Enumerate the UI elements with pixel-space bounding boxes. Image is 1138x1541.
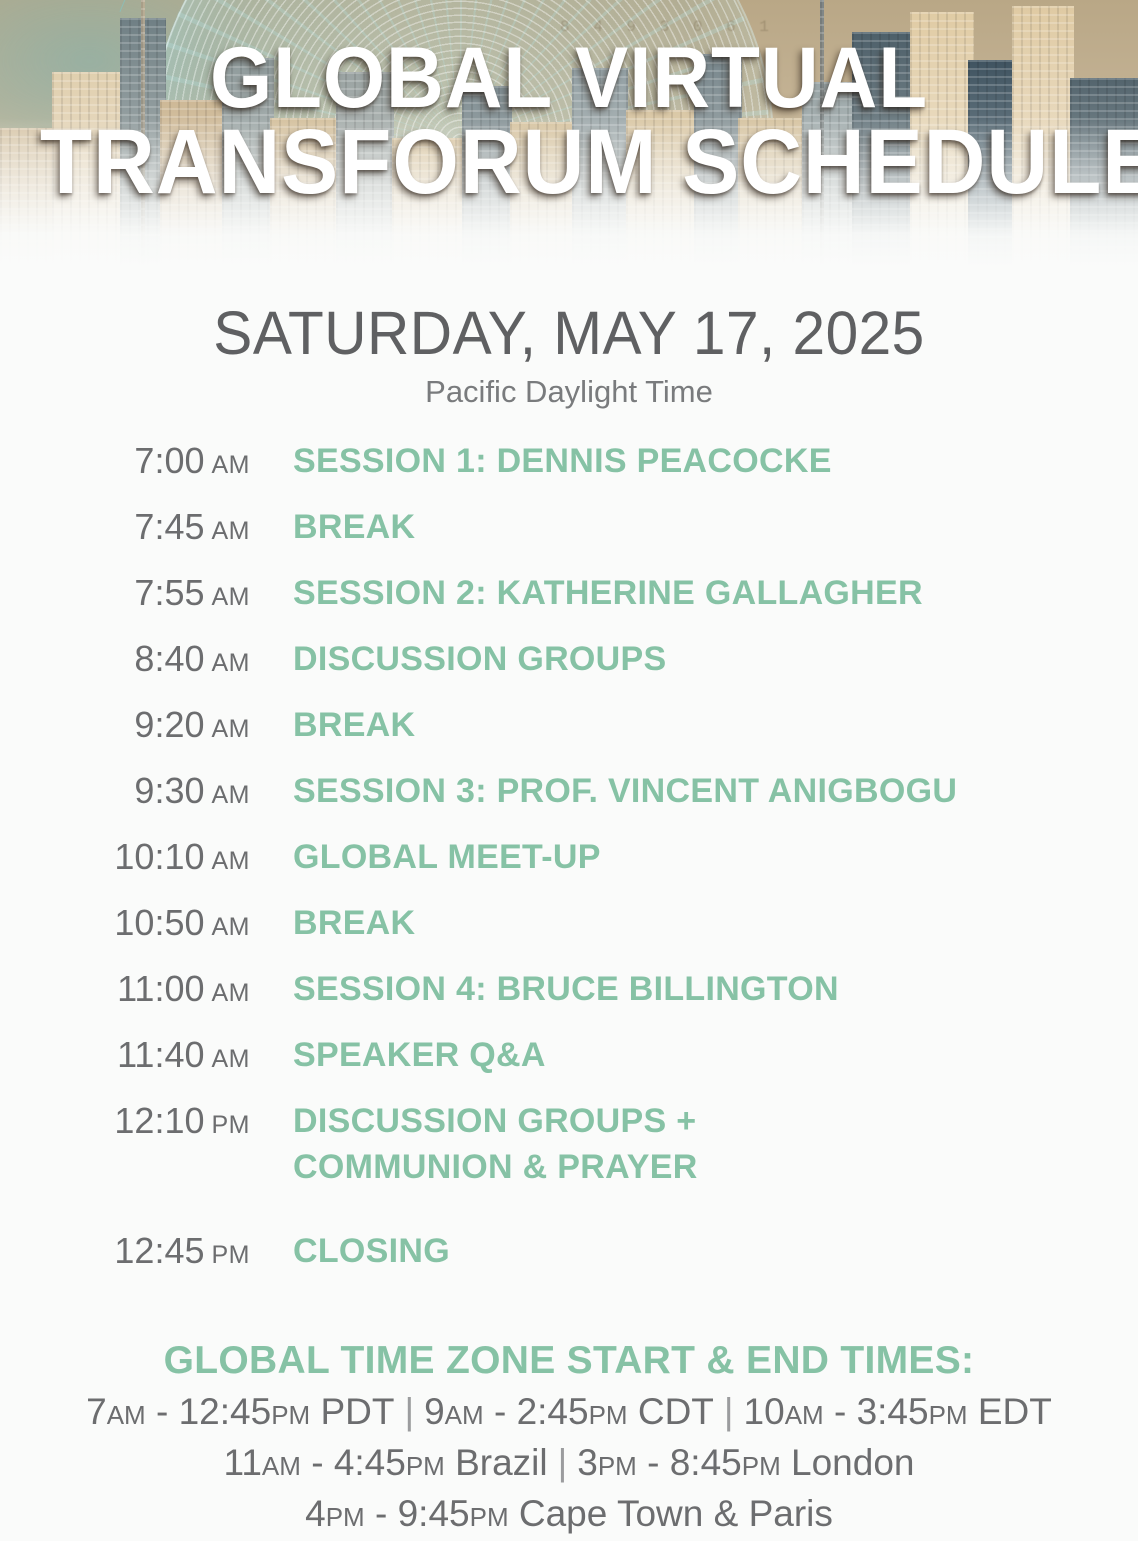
timezone-entry: 3PM - 8:45PM London: [577, 1442, 914, 1483]
time-value: 7:00: [134, 440, 204, 481]
timezone-dash: -: [637, 1442, 670, 1483]
timezone-end-mer: PM: [406, 1451, 445, 1481]
timezone-dash: -: [365, 1493, 398, 1534]
time-meridiem: AM: [212, 583, 251, 611]
schedule-row: 9:30AMSESSION 3: PROF. VINCENT ANIGBOGU: [0, 768, 1138, 834]
time-value: 12:45: [114, 1230, 204, 1271]
schedule-row-time: 7:55AM: [0, 570, 250, 620]
schedule-row-time: 12:45PM: [0, 1228, 250, 1278]
time-value: 11:00: [117, 968, 204, 1009]
time-value: 10:10: [114, 836, 204, 877]
timezone-start: 3: [577, 1442, 598, 1483]
schedule-row-time: 8:40AM: [0, 636, 250, 686]
schedule-row: 12:10PMDISCUSSION GROUPS + COMMUNION & P…: [0, 1098, 1138, 1228]
page-title: GLOBAL VIRTUAL TRANSFORUM SCHEDULE: [40, 36, 1098, 204]
time-meridiem: PM: [212, 1241, 251, 1269]
date-block: SATURDAY, MAY 17, 2025 Pacific Daylight …: [0, 300, 1138, 412]
timezone-end: 4:45: [334, 1442, 406, 1483]
schedule-row: 7:55AMSESSION 2: KATHERINE GALLAGHER: [0, 570, 1138, 636]
schedule-row-title: DISCUSSION GROUPS: [293, 636, 667, 682]
timezone-dash: -: [484, 1391, 517, 1432]
schedule-row: 7:45AMBREAK: [0, 504, 1138, 570]
timezone-line: 4PM - 9:45PM Cape Town & Paris: [0, 1490, 1138, 1541]
timezone-zone: PDT: [310, 1391, 394, 1432]
time-meridiem: AM: [212, 913, 251, 941]
timezone-zone: Brazil: [445, 1442, 548, 1483]
title-line-2: TRANSFORUM SCHEDULE: [40, 120, 1098, 204]
timezone-start-mer: AM: [262, 1451, 301, 1481]
footer-heading: GLOBAL TIME ZONE START & END TIMES:: [0, 1334, 1138, 1388]
header-banner: 0 9 3 7 6 0 8 5 1 8 4 9 3 0 6 1 GLOBAL V…: [0, 0, 1138, 268]
schedule-row: 10:10AMGLOBAL MEET-UP: [0, 834, 1138, 900]
schedule-row-time: 11:00AM: [0, 966, 250, 1016]
schedule-row-time: 11:40AM: [0, 1032, 250, 1082]
timezone-dash: -: [301, 1442, 334, 1483]
timezone-zone: CDT: [628, 1391, 714, 1432]
timezone-end-mer: PM: [271, 1400, 310, 1430]
time-meridiem: PM: [212, 1111, 251, 1139]
global-times-footer: GLOBAL TIME ZONE START & END TIMES: 7AM …: [0, 1334, 1138, 1541]
time-meridiem: AM: [212, 451, 251, 479]
timezone-end-mer: PM: [929, 1400, 968, 1430]
timezone-start-mer: AM: [445, 1400, 484, 1430]
timezone-zone: Cape Town & Paris: [509, 1493, 833, 1534]
schedule-row: 11:40AMSPEAKER Q&A: [0, 1032, 1138, 1098]
timezone-start: 7: [86, 1391, 107, 1432]
time-meridiem: AM: [212, 1045, 251, 1073]
timezone-end-mer: PM: [742, 1451, 781, 1481]
timezone-start-mer: AM: [107, 1400, 146, 1430]
time-meridiem: AM: [212, 649, 251, 677]
time-value: 11:40: [117, 1034, 204, 1075]
schedule-row: 11:00AMSESSION 4: BRUCE BILLINGTON: [0, 966, 1138, 1032]
event-date: SATURDAY, MAY 17, 2025: [23, 300, 1115, 366]
timezone-entry: 7AM - 12:45PM PDT: [86, 1391, 394, 1432]
timezone-separator: |: [394, 1391, 424, 1432]
timezone-lines: 7AM - 12:45PM PDT|9AM - 2:45PM CDT|10AM …: [0, 1388, 1138, 1541]
time-meridiem: AM: [212, 979, 251, 1007]
schedule-row-title: SESSION 1: DENNIS PEACOCKE: [293, 438, 832, 484]
time-meridiem: AM: [212, 847, 251, 875]
schedule-row: 12:45PMCLOSING: [0, 1228, 1138, 1294]
timezone-start-mer: PM: [598, 1451, 637, 1481]
schedule-row-title: SPEAKER Q&A: [293, 1032, 546, 1078]
schedule-row-title: SESSION 3: PROF. VINCENT ANIGBOGU: [293, 768, 957, 814]
schedule-row-time: 10:50AM: [0, 900, 250, 950]
time-value: 7:55: [134, 572, 204, 613]
schedule-row-time: 9:30AM: [0, 768, 250, 818]
timezone-start: 10: [744, 1391, 785, 1432]
schedule-row: 9:20AMBREAK: [0, 702, 1138, 768]
time-value: 9:30: [134, 770, 204, 811]
timezone-end-mer: PM: [589, 1400, 628, 1430]
timezone-separator: |: [714, 1391, 744, 1432]
time-value: 7:45: [134, 506, 204, 547]
title-line-1: GLOBAL VIRTUAL: [40, 36, 1098, 120]
schedule-row-time: 12:10PM: [0, 1098, 250, 1148]
timezone-end: 9:45: [398, 1493, 470, 1534]
time-meridiem: AM: [212, 715, 251, 743]
timezone-entry: 4PM - 9:45PM Cape Town & Paris: [305, 1493, 833, 1534]
timezone-line: 7AM - 12:45PM PDT|9AM - 2:45PM CDT|10AM …: [0, 1388, 1138, 1439]
timezone-end: 3:45: [857, 1391, 929, 1432]
schedule-row: 7:00AMSESSION 1: DENNIS PEACOCKE: [0, 438, 1138, 504]
schedule-row-time: 7:45AM: [0, 504, 250, 554]
time-value: 12:10: [114, 1100, 204, 1141]
schedule-list: 7:00AMSESSION 1: DENNIS PEACOCKE7:45AMBR…: [0, 438, 1138, 1294]
timezone-end: 2:45: [517, 1391, 589, 1432]
timezone-start-mer: PM: [326, 1502, 365, 1532]
schedule-row-time: 9:20AM: [0, 702, 250, 752]
schedule-row-title: SESSION 2: KATHERINE GALLAGHER: [293, 570, 923, 616]
timezone-line: 11AM - 4:45PM Brazil|3PM - 8:45PM London: [0, 1439, 1138, 1490]
timezone-zone: EDT: [968, 1391, 1052, 1432]
schedule-row-time: 10:10AM: [0, 834, 250, 884]
timezone-start: 4: [305, 1493, 326, 1534]
timezone-end-mer: PM: [470, 1502, 509, 1532]
time-value: 10:50: [114, 902, 204, 943]
time-meridiem: AM: [212, 517, 251, 545]
event-timezone-label: Pacific Daylight Time: [0, 372, 1138, 412]
time-value: 9:20: [134, 704, 204, 745]
timezone-start-mer: AM: [785, 1400, 824, 1430]
schedule-row-title: SESSION 4: BRUCE BILLINGTON: [293, 966, 839, 1012]
time-value: 8:40: [134, 638, 204, 679]
schedule-row-title: BREAK: [293, 900, 415, 946]
timezone-start: 11: [224, 1442, 262, 1483]
schedule-row-title: BREAK: [293, 504, 415, 550]
schedule-row-time: 7:00AM: [0, 438, 250, 488]
timezone-end: 8:45: [670, 1442, 742, 1483]
schedule-row: 8:40AMDISCUSSION GROUPS: [0, 636, 1138, 702]
timezone-entry: 10AM - 3:45PM EDT: [744, 1391, 1052, 1432]
timezone-dash: -: [146, 1391, 179, 1432]
timezone-separator: |: [548, 1442, 578, 1483]
timezone-dash: -: [824, 1391, 857, 1432]
schedule-row-title: CLOSING: [293, 1228, 450, 1274]
timezone-entry: 11AM - 4:45PM Brazil: [224, 1442, 548, 1483]
schedule-row-title: DISCUSSION GROUPS + COMMUNION & PRAYER: [293, 1098, 698, 1190]
timezone-entry: 9AM - 2:45PM CDT: [424, 1391, 714, 1432]
schedule-row: 10:50AMBREAK: [0, 900, 1138, 966]
timezone-zone: London: [781, 1442, 915, 1483]
timezone-start: 9: [424, 1391, 445, 1432]
time-meridiem: AM: [212, 781, 251, 809]
timezone-end: 12:45: [179, 1391, 272, 1432]
schedule-row-title: GLOBAL MEET-UP: [293, 834, 601, 880]
schedule-row-title: BREAK: [293, 702, 415, 748]
